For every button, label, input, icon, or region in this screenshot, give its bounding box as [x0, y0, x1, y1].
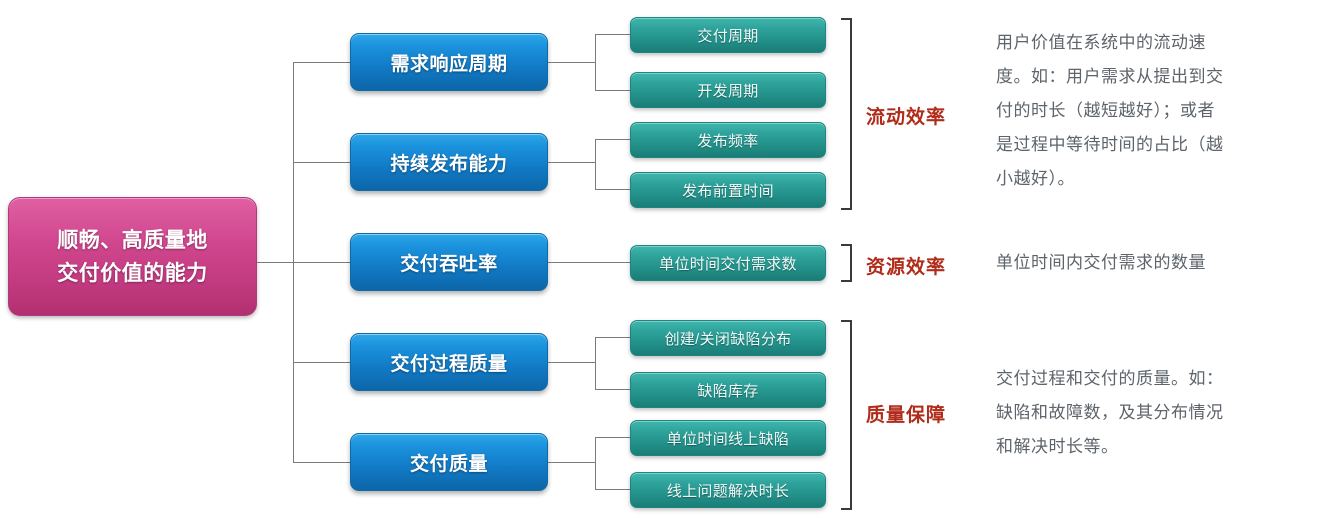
connector-sub2-metric-1: [595, 139, 630, 140]
connector-branch-2: [293, 162, 350, 163]
branch-box-3[interactable]: 交付吞吐率: [350, 233, 548, 291]
connector-sub1-stem: [548, 62, 595, 63]
metric-box-2-2-label: 发布前置时间: [682, 180, 774, 201]
branch-box-5-label: 交付质量: [410, 449, 488, 476]
connector-sub2-spine: [595, 139, 596, 189]
category-label-flow-efficiency: 流动效率: [866, 102, 946, 129]
metric-box-5-2[interactable]: 线上问题解决时长: [630, 472, 826, 508]
branch-box-2[interactable]: 持续发布能力: [350, 133, 548, 191]
metric-box-4-2-label: 缺陷库存: [697, 380, 758, 401]
connector-sub5-stem: [548, 462, 595, 463]
connector-sub5-spine: [595, 437, 596, 489]
connector-sub4-stem: [548, 362, 595, 363]
category-description-quality-assurance: 交付过程和交付的质量。如： 缺陷和故障数，及其分布情况 和解决时长等。: [996, 362, 1316, 464]
branch-box-1[interactable]: 需求响应周期: [350, 33, 548, 91]
connector-sub4-metric-1: [595, 337, 630, 338]
connector-branch-4: [293, 362, 350, 363]
branch-box-2-label: 持续发布能力: [390, 149, 507, 176]
category-description-flow-efficiency: 用户价值在系统中的流动速 度。如：用户需求从提出到交 付的时长（越短越好）；或者…: [996, 26, 1316, 196]
metric-box-5-2-label: 线上问题解决时长: [667, 480, 789, 501]
bracket-flow-efficiency: [840, 18, 852, 210]
branch-box-5[interactable]: 交付质量: [350, 433, 548, 491]
category-description-resource-efficiency: 单位时间内交付需求的数量: [996, 246, 1316, 280]
category-label-resource-efficiency: 资源效率: [866, 252, 946, 279]
metric-box-4-2[interactable]: 缺陷库存: [630, 372, 826, 408]
connector-sub2-stem: [548, 162, 595, 163]
bracket-quality-assurance: [840, 320, 852, 510]
metric-box-1-2[interactable]: 开发周期: [630, 72, 826, 108]
connector-sub5-metric-1: [595, 437, 630, 438]
category-label-quality-assurance: 质量保障: [866, 400, 946, 427]
metric-box-1-2-label: 开发周期: [697, 80, 758, 101]
metric-box-3-1[interactable]: 单位时间交付需求数: [630, 245, 826, 281]
branch-box-3-label: 交付吞吐率: [400, 249, 498, 276]
connector-branch-3: [293, 262, 350, 263]
connector-sub2-metric-2: [595, 189, 630, 190]
connector-branch-5: [293, 462, 350, 463]
metric-box-2-1[interactable]: 发布频率: [630, 122, 826, 158]
connector-sub4-spine: [595, 337, 596, 389]
bracket-resource-efficiency: [840, 244, 852, 282]
metric-box-4-1[interactable]: 创建/关闭缺陷分布: [630, 320, 826, 356]
connector-sub1-metric-2: [595, 90, 630, 91]
connector-sub1-spine: [595, 34, 596, 90]
root-node[interactable]: 顺畅、高质量地 交付价值的能力: [8, 197, 257, 316]
connector-sub5-metric-2: [595, 489, 630, 490]
connector-sub3-stem: [548, 262, 630, 263]
metric-box-1-1-label: 交付周期: [697, 25, 758, 46]
connector-sub1-metric-1: [595, 34, 630, 35]
metric-box-1-1[interactable]: 交付周期: [630, 17, 826, 53]
connector-sub4-metric-2: [595, 389, 630, 390]
branch-box-1-label: 需求响应周期: [390, 49, 507, 76]
root-node-label: 顺畅、高质量地 交付价值的能力: [57, 224, 208, 290]
metric-box-2-1-label: 发布频率: [697, 130, 758, 151]
metric-box-5-1[interactable]: 单位时间线上缺陷: [630, 420, 826, 456]
branch-box-4[interactable]: 交付过程质量: [350, 333, 548, 391]
connector-root-stub: [257, 262, 293, 263]
diagram-canvas: 顺畅、高质量地 交付价值的能力 需求响应周期 持续发布能力 交付吞吐率 交付过程…: [0, 0, 1329, 532]
metric-box-3-1-label: 单位时间交付需求数: [659, 253, 797, 274]
metric-box-4-1-label: 创建/关闭缺陷分布: [665, 328, 792, 349]
branch-box-4-label: 交付过程质量: [390, 349, 507, 376]
metric-box-5-1-label: 单位时间线上缺陷: [667, 428, 789, 449]
metric-box-2-2[interactable]: 发布前置时间: [630, 172, 826, 208]
connector-branch-1: [293, 62, 350, 63]
